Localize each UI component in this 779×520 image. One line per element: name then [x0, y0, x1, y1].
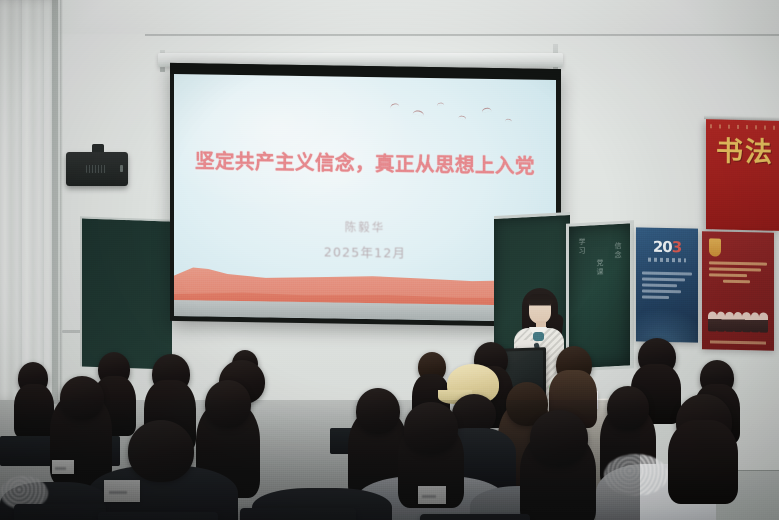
presenter-fringe — [527, 294, 553, 305]
poster-red-figures — [708, 297, 768, 332]
poster-blue-textlines — [642, 271, 692, 302]
poster-blue-subtitle-rule — [648, 258, 686, 263]
chalk-text-2: 党课 — [595, 259, 605, 278]
speaker-grille — [86, 165, 106, 173]
poster-red-emblem-icon — [709, 238, 721, 256]
bird-flock-icon — [384, 95, 524, 137]
wall-speaker-icon — [66, 152, 128, 186]
poster-red-textlines — [709, 261, 767, 286]
chalk-text-3: 信念 — [613, 242, 623, 261]
poster-blue-headline: 203 — [653, 238, 681, 257]
speaker-led — [120, 165, 123, 172]
calligraphy-banner: 书法 — [706, 119, 779, 231]
poster-blue: 203 — [636, 227, 698, 342]
ceiling-seam — [145, 34, 779, 36]
eyeglasses-icon — [529, 305, 551, 310]
ceiling-band — [0, 0, 779, 34]
audience-area — [0, 336, 779, 520]
audience-hair — [668, 420, 738, 504]
chalk-text-1: 学习 — [577, 238, 587, 257]
banner-trim — [710, 124, 775, 130]
lecture-hall-photo: 坚定共产主义信念，真正从思想上入党 陈毅华 2025年12月 学习 党课 信念 … — [0, 0, 779, 520]
banner-text: 书法 — [716, 137, 774, 168]
audience-floor-shadow — [0, 400, 640, 520]
slide-title: 坚定共产主义信念，真正从思想上入党 — [174, 144, 556, 179]
poster-red — [702, 231, 774, 351]
